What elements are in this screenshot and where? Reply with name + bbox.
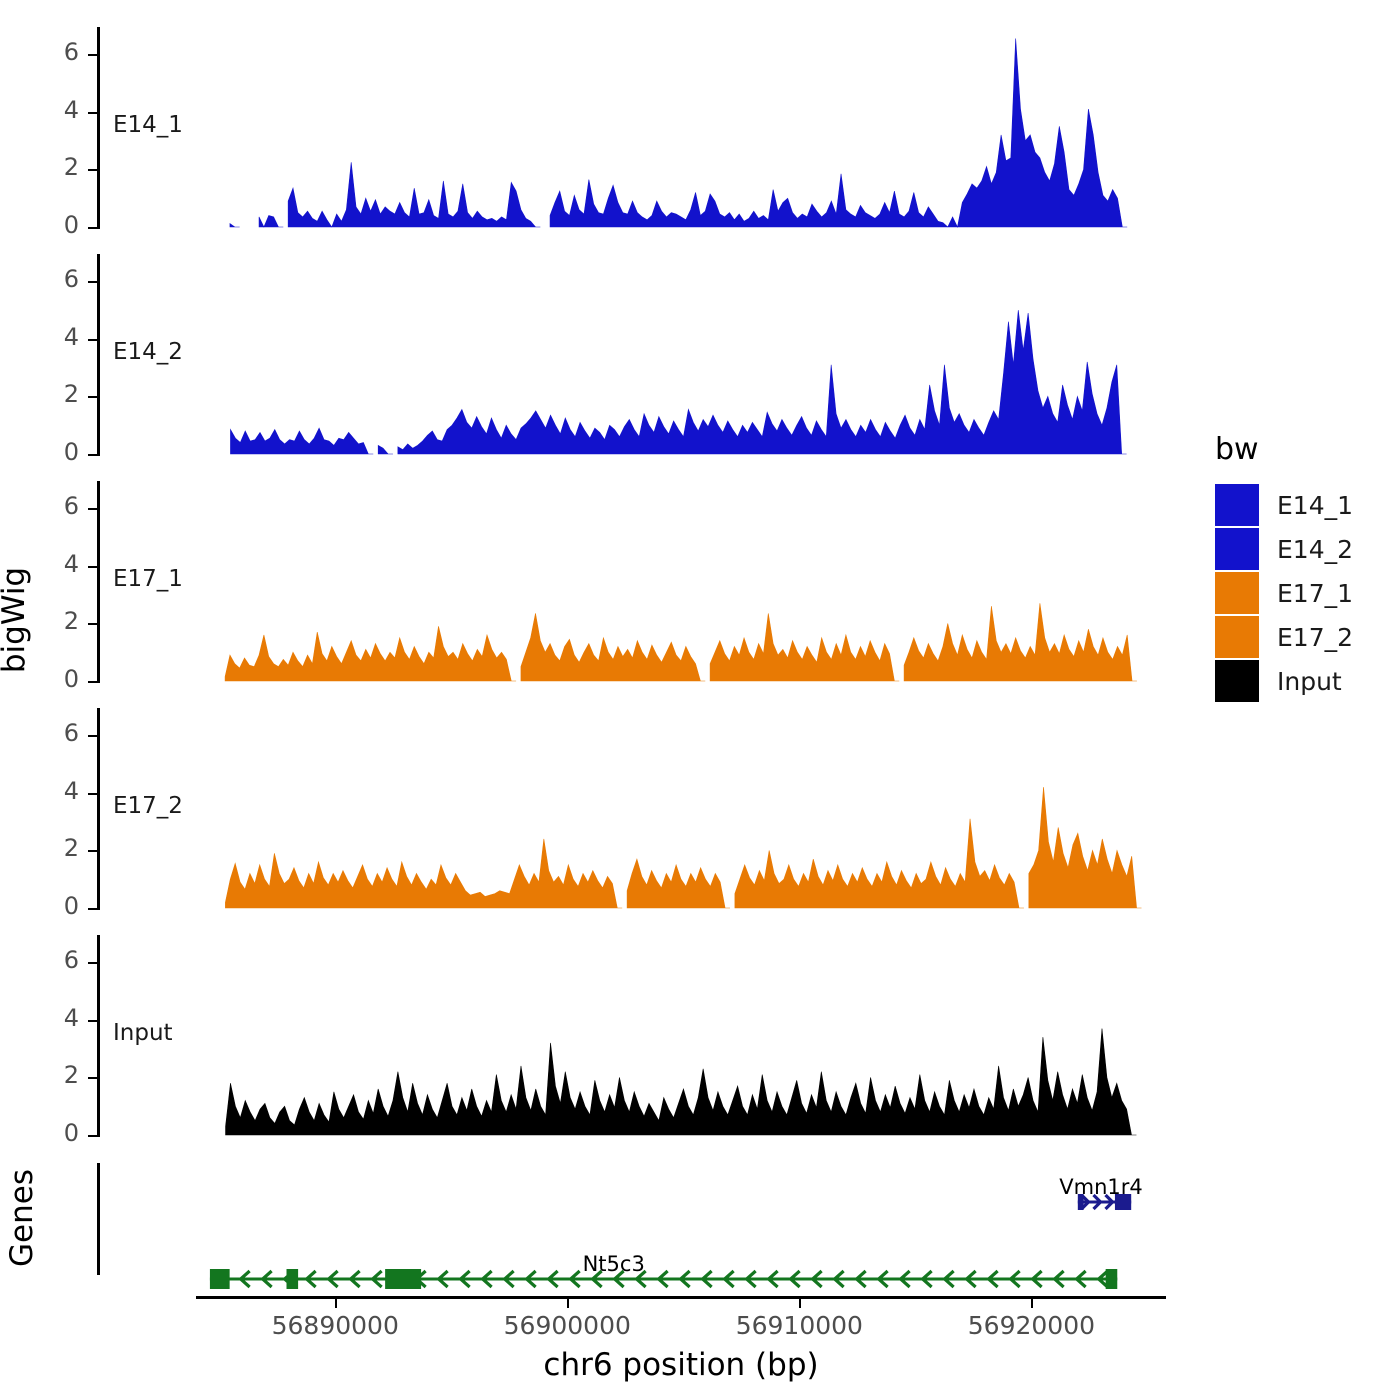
track-label-e14_1: E14_1 (113, 112, 183, 138)
track-label-e14_2: E14_2 (113, 339, 183, 365)
y-axis-tick (88, 1077, 97, 1079)
y-axis-line (97, 481, 100, 683)
y-axis-tick-label: 2 (39, 380, 79, 408)
y-axis-title: bigWig (0, 567, 32, 673)
legend-swatch-icon (1215, 528, 1259, 570)
legend-item-e17_1[interactable]: E17_1 (1215, 571, 1353, 615)
y-axis-tick (88, 681, 97, 683)
y-axis-tick-label: 0 (39, 1119, 79, 1147)
y-axis-tick (88, 1020, 97, 1022)
y-axis-line (97, 708, 100, 910)
genes-axis-title: Genes (4, 1169, 40, 1267)
y-axis-tick (88, 793, 97, 795)
x-axis-tick-label: 56900000 (504, 1311, 631, 1340)
y-axis-tick (88, 735, 97, 737)
legend-item-label: E17_2 (1277, 623, 1353, 652)
track-label-e17_1: E17_1 (113, 566, 183, 592)
y-axis-tick (88, 281, 97, 283)
y-axis-tick-label: 4 (39, 1004, 79, 1032)
y-axis-tick-label: 6 (39, 492, 79, 520)
genes-axis-line (97, 1163, 100, 1275)
y-axis-tick (88, 396, 97, 398)
gene-models (0, 0, 1400, 1400)
legend-item-e14_2[interactable]: E14_2 (1215, 527, 1353, 571)
y-axis-tick-label: 2 (39, 153, 79, 181)
y-axis-tick-label: 0 (39, 665, 79, 693)
legend: bw E14_1E14_2E17_1E17_2Input (1215, 432, 1353, 703)
y-axis-tick-label: 0 (39, 438, 79, 466)
coverage-area-input (0, 0, 1400, 1400)
y-axis-tick (88, 566, 97, 568)
y-axis-tick (88, 508, 97, 510)
y-axis-tick-label: 2 (39, 834, 79, 862)
track-label-input: Input (113, 1020, 173, 1046)
track-panel-input: 0246Input (0, 0, 1400, 1400)
x-axis-tick-label: 56920000 (968, 1311, 1095, 1340)
coverage-area-e17_1 (0, 0, 1400, 1400)
legend-item-e14_1[interactable]: E14_1 (1215, 483, 1353, 527)
legend-swatch-icon (1215, 616, 1259, 658)
y-axis-line (97, 254, 100, 456)
track-panel-e14_1: 0246E14_1 (0, 0, 1400, 1400)
y-axis-tick-label: 2 (39, 1061, 79, 1089)
legend-swatch-icon (1215, 572, 1259, 614)
legend-item-label: E14_2 (1277, 535, 1353, 564)
y-axis-tick (88, 227, 97, 229)
track-panel-e17_1: 0246E17_1 (0, 0, 1400, 1400)
legend-swatch-icon (1215, 484, 1259, 526)
y-axis-line (97, 935, 100, 1137)
y-axis-tick-label: 6 (39, 946, 79, 974)
x-axis-tick (335, 1299, 337, 1308)
x-axis-tick (799, 1299, 801, 1308)
y-axis-tick-label: 6 (39, 719, 79, 747)
track-label-e17_2: E17_2 (113, 793, 183, 819)
y-axis-line (97, 27, 100, 229)
y-axis-tick (88, 850, 97, 852)
y-axis-tick (88, 54, 97, 56)
coverage-area-e14_2 (0, 0, 1400, 1400)
x-axis-tick (567, 1299, 569, 1308)
gene-label-vmn1r4: Vmn1r4 (1059, 1175, 1143, 1199)
y-axis-tick (88, 623, 97, 625)
legend-item-input[interactable]: Input (1215, 659, 1353, 703)
y-axis-tick-label: 0 (39, 892, 79, 920)
y-axis-tick-label: 0 (39, 211, 79, 239)
legend-item-label: E17_1 (1277, 579, 1353, 608)
legend-items: E14_1E14_2E17_1E17_2Input (1215, 483, 1353, 703)
y-axis-tick (88, 962, 97, 964)
y-axis-tick (88, 112, 97, 114)
y-axis-tick-label: 2 (39, 607, 79, 635)
legend-item-e17_2[interactable]: E17_2 (1215, 615, 1353, 659)
y-axis-tick-label: 4 (39, 777, 79, 805)
y-axis-tick-label: 6 (39, 265, 79, 293)
y-axis-tick-label: 4 (39, 550, 79, 578)
y-axis-tick (88, 339, 97, 341)
coverage-area-e14_1 (0, 0, 1400, 1400)
x-axis-tick-label: 56890000 (272, 1311, 399, 1340)
y-axis-tick (88, 169, 97, 171)
x-axis-tick (1031, 1299, 1033, 1308)
x-axis-line (196, 1296, 1166, 1299)
gene-label-nt5c3: Nt5c3 (583, 1252, 645, 1276)
y-axis-tick (88, 908, 97, 910)
legend-item-label: Input (1277, 667, 1342, 696)
y-axis-tick (88, 454, 97, 456)
track-panel-e14_2: 0246E14_2 (0, 0, 1400, 1400)
y-axis-tick-label: 4 (39, 323, 79, 351)
y-axis-tick-label: 6 (39, 38, 79, 66)
y-axis-tick (88, 1135, 97, 1137)
track-panel-e17_2: 0246E17_2 (0, 0, 1400, 1400)
y-axis-tick-label: 4 (39, 96, 79, 124)
x-axis-title: chr6 position (bp) (543, 1347, 818, 1383)
coverage-area-e17_2 (0, 0, 1400, 1400)
x-axis-tick-label: 56910000 (736, 1311, 863, 1340)
legend-item-label: E14_1 (1277, 491, 1353, 520)
legend-swatch-icon (1215, 660, 1259, 702)
legend-title: bw (1215, 432, 1353, 467)
